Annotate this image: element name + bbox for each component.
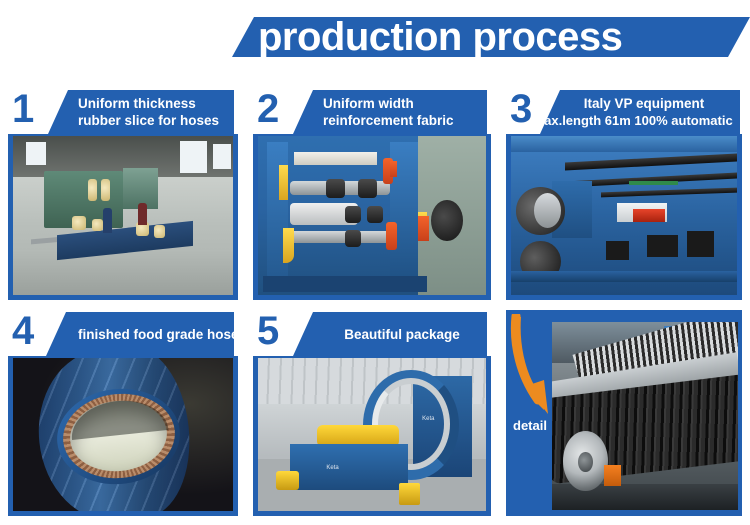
hose-cross-section-scene [13, 358, 233, 511]
fabric-slitter-scene [258, 136, 486, 295]
panel-5-number: 5 [257, 308, 279, 354]
panel-grid: 1 Uniform thickness rubber slice for hos… [8, 88, 742, 516]
panel-5-label-line-1: Beautiful package [344, 326, 460, 343]
panel-2-head: 2 Uniform width reinforcement fabric [253, 88, 491, 134]
panel-2-photo [258, 136, 486, 295]
detail-photo [552, 322, 738, 510]
panel-1-photo [13, 136, 233, 295]
detail-label: detail [508, 418, 552, 434]
panel-detail[interactable]: detail [506, 310, 742, 516]
panel-2-label: Uniform width reinforcement fabric [293, 90, 487, 134]
panel-5-head: 5 Beautiful package [253, 310, 491, 356]
panel-3-label: Italy VP equipment Max.length 61m 100% a… [540, 90, 740, 134]
panel-step-4[interactable]: 4 finished food grade hose [8, 310, 238, 516]
panel-3-label-line-2: Max.length 61m 100% automatic [533, 112, 732, 129]
panel-step-1[interactable]: 1 Uniform thickness rubber slice for hos… [8, 88, 238, 300]
packaging-machine-scene: Keta Keta [258, 358, 486, 511]
panel-1-label: Uniform thickness rubber slice for hoses [48, 90, 234, 134]
panel-4-label: finished food grade hose [46, 312, 234, 356]
panel-1-head: 1 Uniform thickness rubber slice for hos… [8, 88, 238, 134]
production-process-infographic: production process 1 [0, 0, 750, 525]
panel-3-number: 3 [510, 86, 532, 132]
detail-callout: detail [506, 310, 554, 516]
panel-2-number: 2 [257, 86, 279, 132]
panel-2-label-line-2: reinforcement fabric [323, 112, 454, 129]
panel-5-label: Beautiful package [293, 312, 487, 356]
panel-1-label-line-2: rubber slice for hoses [78, 112, 219, 129]
factory-floor-scene [13, 136, 233, 295]
panel-step-2[interactable]: 2 Uniform width reinforcement fabric [253, 88, 491, 300]
panel-2-label-line-1: Uniform width [323, 95, 414, 112]
panel-1-label-line-1: Uniform thickness [78, 95, 196, 112]
panel-5-photo: Keta Keta [258, 358, 486, 511]
vp-production-line-scene [511, 136, 737, 295]
panel-1-number: 1 [12, 86, 34, 132]
panel-3-photo [511, 136, 737, 295]
curved-arrow-icon [508, 314, 552, 422]
panel-4-photo [13, 358, 233, 511]
panel-step-3[interactable]: 3 Italy VP equipment Max.length 61m 100%… [506, 88, 742, 300]
panel-4-label-line-1: finished food grade hose [78, 326, 239, 343]
panel-3-label-line-1: Italy VP equipment [584, 95, 705, 112]
hose-closeup-scene [552, 322, 738, 510]
panel-3-head: 3 Italy VP equipment Max.length 61m 100%… [506, 88, 742, 134]
panel-4-head: 4 finished food grade hose [8, 310, 238, 356]
page-title: production process [258, 9, 728, 65]
panel-step-5[interactable]: Keta Keta 5 Beautiful package [253, 310, 491, 516]
panel-4-number: 4 [12, 308, 34, 354]
header-banner: production process [232, 17, 750, 57]
